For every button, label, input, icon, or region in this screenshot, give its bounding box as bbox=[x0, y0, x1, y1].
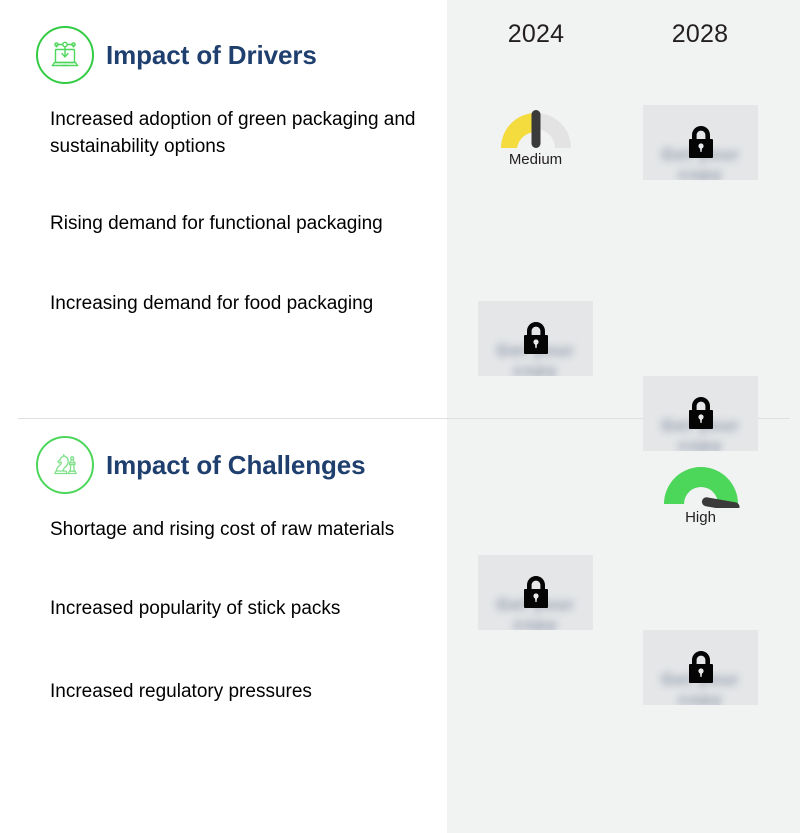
lock-icon bbox=[684, 649, 718, 687]
list-item: Rising demand for functional packaging bbox=[50, 210, 420, 237]
gauge-value-label: Medium bbox=[509, 152, 562, 168]
locked-cell[interactable]: Get your copy bbox=[478, 301, 593, 376]
gauge-value-label: High bbox=[685, 510, 716, 526]
list-item: Increased popularity of stick packs bbox=[50, 595, 420, 622]
lock-icon bbox=[684, 395, 718, 433]
list-item: Increased regulatory pressures bbox=[50, 678, 420, 705]
list-item: Shortage and rising cost of raw material… bbox=[50, 516, 420, 543]
lock-icon bbox=[519, 574, 553, 612]
section-header-drivers: Impact of Drivers bbox=[36, 26, 317, 84]
locked-cell[interactable]: Get your copy bbox=[643, 630, 758, 705]
impact-gauge-high-2028: High bbox=[643, 460, 758, 535]
column-header-2024: 2024 bbox=[476, 20, 596, 49]
locked-cell[interactable]: Get your copy bbox=[478, 555, 593, 630]
column-header-2028: 2028 bbox=[640, 20, 760, 49]
impact-gauge-medium-2024: Medium bbox=[478, 105, 593, 180]
lock-icon bbox=[519, 320, 553, 358]
gauge-graphic bbox=[497, 105, 575, 150]
list-item: Increased adoption of green packaging an… bbox=[50, 106, 420, 160]
lock-icon bbox=[684, 124, 718, 162]
impact-matrix-page: 2024 2028 Impact of Drivers bbox=[0, 0, 800, 833]
locked-cell[interactable]: Get your copy bbox=[643, 376, 758, 451]
gauge-graphic bbox=[659, 460, 743, 508]
list-item: Increasing demand for food packaging bbox=[50, 290, 420, 317]
locked-cell[interactable]: Get your copy bbox=[643, 105, 758, 180]
drivers-laptop-arrow-icon bbox=[36, 26, 94, 84]
section-header-challenges: Impact of Challenges bbox=[36, 436, 366, 494]
section-title-drivers: Impact of Drivers bbox=[106, 40, 317, 71]
section-title-challenges: Impact of Challenges bbox=[106, 450, 366, 481]
challenges-chess-pieces-icon bbox=[36, 436, 94, 494]
